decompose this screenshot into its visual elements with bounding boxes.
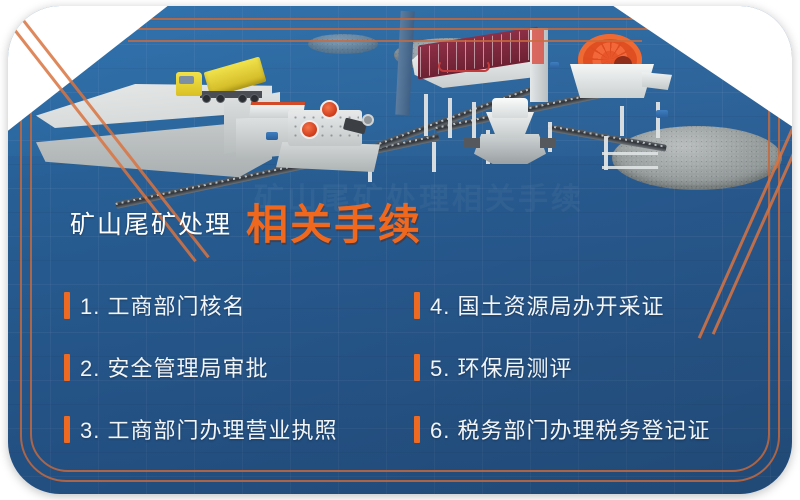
- banner-image: 矿山尾矿处理相关手续 矿山尾矿处理 相关手续 1. 工商部门核名 4. 国土资源…: [0, 0, 800, 500]
- list-item: 2. 安全管理局审批: [64, 336, 414, 398]
- crusher-flywheel: [320, 100, 339, 119]
- list-item-label: 工商部门核名: [107, 294, 245, 319]
- truck-wheel: [202, 94, 211, 103]
- gravel-stockpile-right-icon: [612, 126, 782, 190]
- list-item-number: 4.: [430, 294, 450, 319]
- cone-head: [492, 98, 528, 118]
- bullet-bar-icon: [64, 416, 70, 443]
- cone-arm: [464, 138, 480, 148]
- cone-crusher-icon: [474, 98, 546, 170]
- list-item: 1. 工商部门核名: [64, 274, 414, 336]
- blue-hopper-accent-icon: [550, 62, 559, 69]
- washer-discharge: [642, 72, 672, 90]
- conveyor-leg-icon: [656, 102, 660, 138]
- list-item: 5. 环保局测评: [414, 336, 744, 398]
- truck-wheel: [238, 94, 247, 103]
- screen-decal: [438, 60, 490, 72]
- list-item-label: 环保局测评: [457, 356, 572, 381]
- truck-windshield: [179, 76, 194, 84]
- list-item-text: 3. 工商部门办理营业执照: [80, 413, 338, 445]
- procedure-list: 1. 工商部门核名 4. 国土资源局办开采证 2. 安全管理局审批: [64, 274, 744, 460]
- list-item-text: 5. 环保局测评: [430, 351, 573, 383]
- list-item-text: 4. 国土资源局办开采证: [430, 289, 665, 321]
- crusher-base: [276, 142, 380, 172]
- cone-arm: [540, 138, 556, 148]
- list-item-label: 国土资源局办开采证: [457, 294, 664, 319]
- truck-wheel: [216, 94, 225, 103]
- bullet-bar-icon: [64, 292, 70, 319]
- list-item: 4. 国土资源局办开采证: [414, 274, 744, 336]
- dump-truck-icon: [176, 64, 268, 106]
- list-item-label: 工商部门办理营业执照: [107, 418, 337, 443]
- list-item-text: 6. 税务部门办理税务登记证: [430, 413, 711, 445]
- list-item-text: 1. 工商部门核名: [80, 289, 246, 321]
- gravel-stockpile-far-icon: [308, 34, 378, 54]
- bullet-bar-icon: [414, 292, 420, 319]
- blue-hopper-accent-icon: [266, 132, 278, 140]
- list-item-number: 6.: [430, 418, 450, 443]
- blue-panel: 矿山尾矿处理相关手续 矿山尾矿处理 相关手续 1. 工商部门核名 4. 国土资源…: [8, 6, 792, 494]
- conveyor-leg-icon: [432, 142, 436, 172]
- vibrating-screen-icon: [412, 20, 552, 106]
- screen-mast: [395, 11, 414, 116]
- list-item-label: 税务部门办理税务登记证: [457, 418, 710, 443]
- top-accent-rule: [128, 40, 642, 42]
- washer-tub: [570, 64, 654, 98]
- list-item-number: 1.: [80, 294, 100, 319]
- cone-frame: [474, 134, 546, 164]
- headline-subtitle: 矿山尾矿处理: [70, 205, 232, 246]
- list-item-number: 2.: [80, 356, 100, 381]
- crusher-pulley: [362, 114, 374, 126]
- bullet-bar-icon: [64, 354, 70, 381]
- list-item-number: 5.: [430, 356, 450, 381]
- bullet-bar-icon: [414, 354, 420, 381]
- bullet-bar-icon: [414, 416, 420, 443]
- list-item-text: 2. 安全管理局审批: [80, 351, 269, 383]
- headline-group: 矿山尾矿处理 相关手续: [70, 204, 422, 246]
- list-item: 3. 工商部门办理营业执照: [64, 398, 414, 460]
- list-item-label: 安全管理局审批: [107, 356, 268, 381]
- screen-chute: [532, 30, 544, 64]
- list-item: 6. 税务部门办理税务登记证: [414, 398, 744, 460]
- blue-hopper-accent-icon: [656, 110, 668, 118]
- jaw-crusher-icon: [276, 98, 380, 172]
- crusher-flywheel: [300, 120, 319, 139]
- conveyor-brace-icon: [602, 166, 658, 169]
- headline-title: 相关手续: [246, 204, 422, 246]
- list-item-number: 3.: [80, 418, 100, 443]
- conveyor-brace-icon: [602, 152, 658, 155]
- conveyor-leg-icon: [620, 106, 624, 136]
